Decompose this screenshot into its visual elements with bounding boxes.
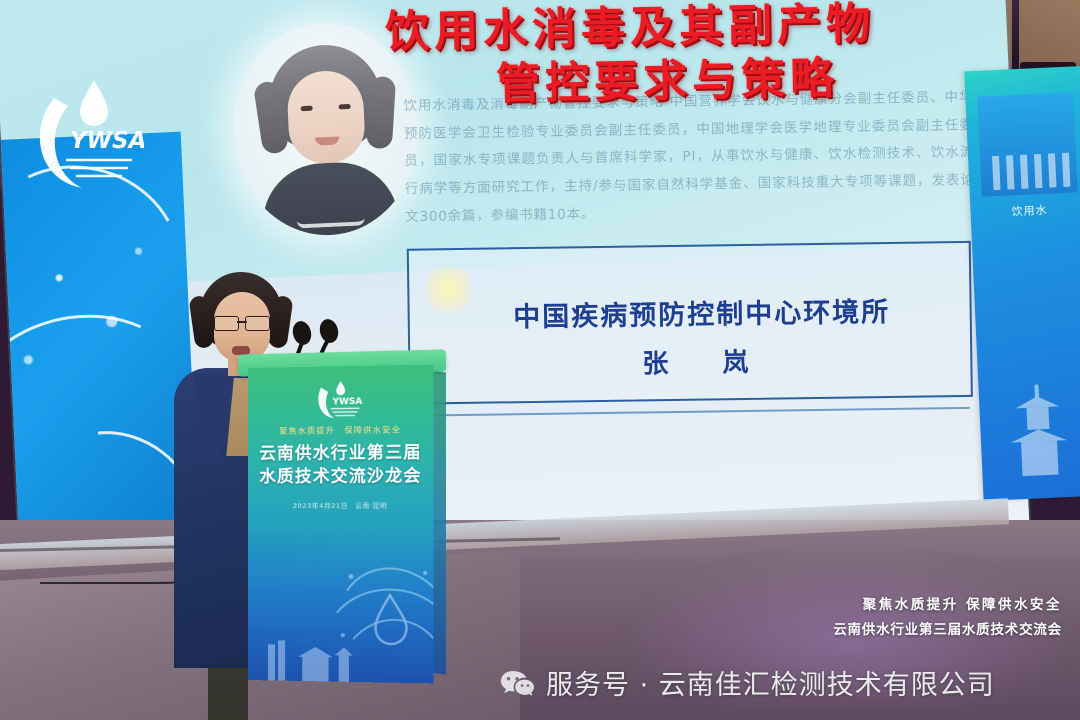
portrait-eye-right xyxy=(339,104,351,110)
side-banner-image xyxy=(977,92,1077,196)
portrait-mouth xyxy=(315,137,339,146)
conference-stage-photo: 饮用水消毒及消毒副产物管控要求与策略 中国营养学会饮水与健康分会副主任委员、中华… xyxy=(0,0,1080,720)
affiliation-organization: 中国疾病预防控制中心环境所 xyxy=(461,289,941,335)
microphone-head-left xyxy=(290,319,313,347)
podium-title: 云南供水行业第三届 水质技术交流沙龙会 xyxy=(248,440,433,489)
rigging-post xyxy=(1012,0,1019,78)
podium-logo-acronym: YWSA xyxy=(332,397,363,408)
podium: YWSA 聚焦水质提升 保障供水安全 云南供水行业第三届 水质技术交流沙龙会 2… xyxy=(248,352,438,682)
wechat-watermark-text: 服务号 · 云南佳汇检测技术有限公司 xyxy=(546,663,995,702)
podium-title-line1: 云南供水行业第三届 xyxy=(248,440,433,465)
ywsa-logo-acronym: YWSA xyxy=(70,128,144,154)
side-banner-pagoda-icon xyxy=(1004,383,1072,482)
podium-date: 2023年4月21日 云南·昆明 xyxy=(248,499,433,510)
side-banner-caption: 饮用水 xyxy=(970,200,1080,221)
podium-ywsa-logo: YWSA xyxy=(312,378,367,421)
portrait-torso xyxy=(260,160,400,239)
event-watermark-line1: 聚焦水质提升 保障供水安全 xyxy=(833,593,1062,613)
podium-skyline-graphic xyxy=(258,638,369,682)
portrait-face xyxy=(286,69,366,164)
podium-tagline: 聚焦水质提升 保障供水安全 xyxy=(248,424,433,437)
event-watermark: 聚焦水质提升 保障供水安全 云南供水行业第三届水质技术交流会 xyxy=(833,593,1062,638)
affiliation-box: 中国疾病预防控制中心环境所 张 岚 xyxy=(407,241,973,405)
wechat-icon xyxy=(500,668,534,698)
main-led-screen: 饮用水消毒及消毒副产物管控要求与策略 中国营养学会饮水与健康分会副主任委员、中华… xyxy=(0,0,1030,589)
wechat-watermark: 服务号 · 云南佳汇检测技术有限公司 xyxy=(500,663,995,702)
event-watermark-line2: 云南供水行业第三届水质技术交流会 xyxy=(833,618,1062,638)
portrait-eye-left xyxy=(301,106,313,112)
podium-front-panel: YWSA 聚焦水质提升 保障供水安全 云南供水行业第三届 水质技术交流沙龙会 2… xyxy=(248,365,433,684)
side-led-banner: 饮用水 xyxy=(964,66,1080,501)
speaker-name: 张 岚 xyxy=(462,339,942,383)
podium-title-line2: 水质技术交流沙龙会 xyxy=(248,464,433,489)
portrait-necklace xyxy=(296,209,365,228)
slide-title: 饮用水消毒及其副产物 管控要求与策略 xyxy=(385,0,987,113)
microphone-head-right xyxy=(317,317,340,345)
ywsa-logo: YWSA xyxy=(20,76,144,196)
slide-title-line2: 管控要求与策略 xyxy=(386,49,987,113)
